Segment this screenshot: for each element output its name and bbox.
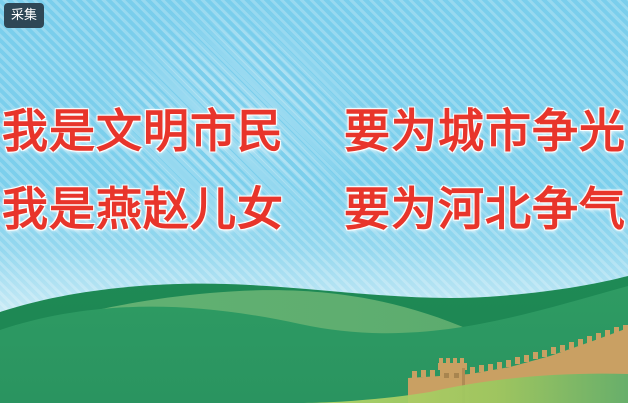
capture-button[interactable]: 采集 — [4, 3, 44, 28]
screenshot-root: 我是文明市民 要为城市争光 我是燕赵儿女 要为河北争气 采集 — [0, 0, 628, 403]
landscape-illustration — [0, 0, 628, 403]
